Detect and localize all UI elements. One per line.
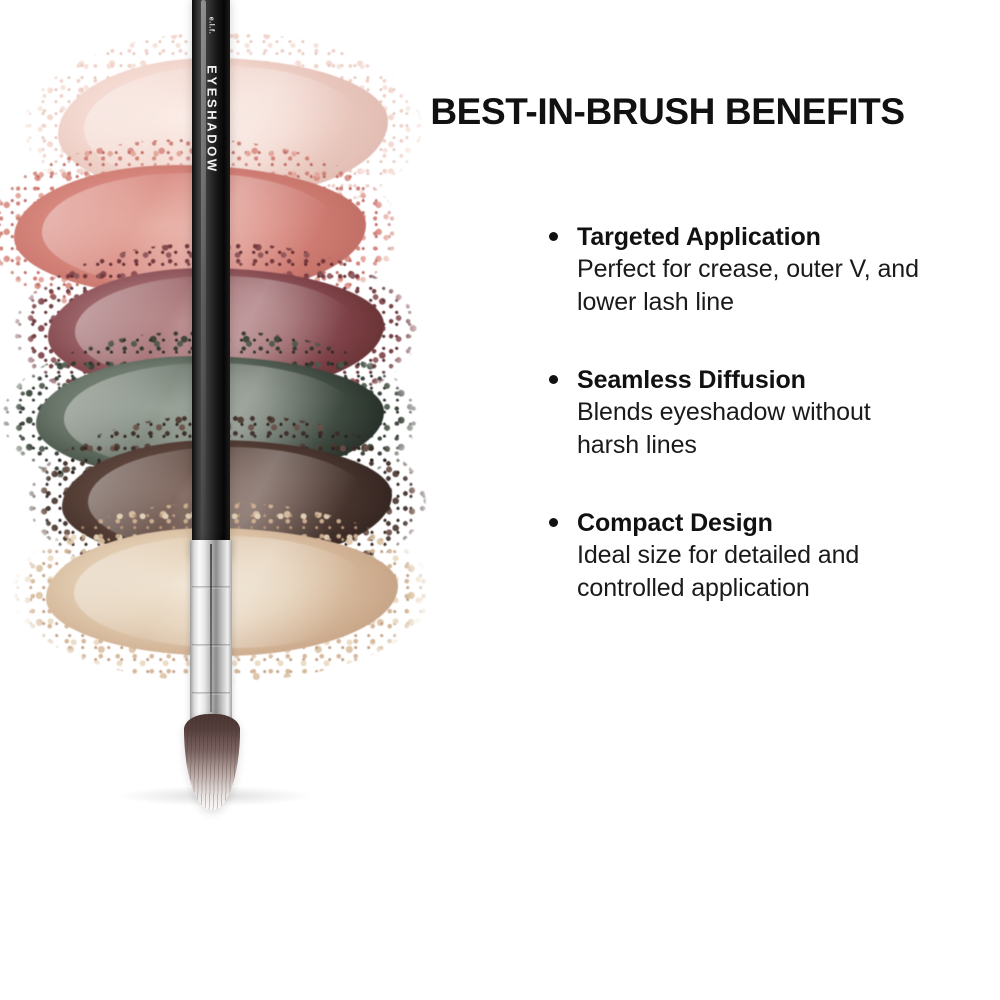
benefit-item-seamless-diffusion: Seamless Diffusion Blends eyeshadow with…: [545, 364, 965, 463]
brush-handle-label: EYESHADOW: [205, 10, 220, 230]
eyeshadow-brush: e.l.f. EYESHADOW: [186, 0, 278, 810]
brush-handle: e.l.f. EYESHADOW: [192, 0, 230, 560]
bullet-icon: [549, 232, 558, 241]
benefits-list: Targeted Application Perfect for crease,…: [545, 221, 965, 606]
page-title: BEST-IN-BRUSH BENEFITS: [385, 92, 950, 133]
brush-ferrule: [190, 540, 232, 722]
promo-page: e.l.f. EYESHADOW BEST-IN-BRUSH BENEFITS …: [0, 0, 1000, 1000]
benefit-title: Targeted Application: [577, 221, 965, 253]
benefit-item-targeted-application: Targeted Application Perfect for crease,…: [545, 221, 965, 320]
benefit-title: Compact Design: [577, 507, 965, 539]
brush-bristles: [184, 714, 240, 810]
ferrule-seam: [210, 544, 212, 712]
bullet-icon: [549, 518, 558, 527]
benefit-item-compact-design: Compact Design Ideal size for detailed a…: [545, 507, 965, 606]
benefit-description: Ideal size for detailed and controlled a…: [577, 539, 922, 606]
benefit-title: Seamless Diffusion: [577, 364, 965, 396]
bullet-icon: [549, 375, 558, 384]
bristle-texture: [184, 714, 240, 810]
benefits-content: BEST-IN-BRUSH BENEFITS Targeted Applicat…: [385, 92, 965, 606]
benefit-description: Blends eyeshadow without harsh lines: [577, 396, 922, 463]
product-visual: e.l.f. EYESHADOW: [0, 0, 420, 830]
benefit-description: Perfect for crease, outer V, and lower l…: [577, 253, 922, 320]
